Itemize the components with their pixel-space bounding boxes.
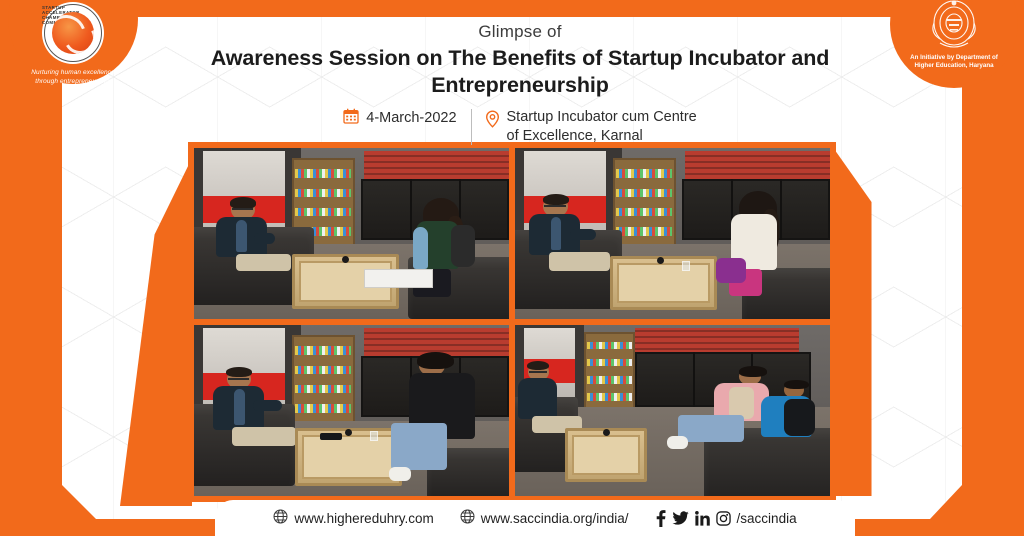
gallery-photo-1[interactable] [194, 148, 509, 319]
globe-icon [460, 509, 475, 527]
glass [370, 431, 378, 441]
top-orange-strip [0, 0, 1024, 17]
brick-wall [635, 328, 799, 354]
header-block: Glimpse of Awareness Session on The Bene… [150, 22, 890, 146]
footer-link-highereduhry-text: www.highereduhry.com [294, 511, 433, 526]
location-pin-icon [485, 110, 500, 134]
twitter-icon[interactable] [672, 511, 689, 526]
person-participant [723, 192, 805, 305]
bookshelf [292, 335, 355, 427]
sacc-tagline-line2: through entrepreneurship [35, 78, 110, 85]
footer-link-saccindia-text: www.saccindia.org/india/ [481, 511, 629, 526]
sacc-tagline-line1: Nurturing human excellence [31, 69, 115, 76]
sacc-logo: STARTUP ACCELERATOR CHAMBER OF COMMERCE … [8, 0, 138, 84]
person-student [408, 199, 490, 305]
sacc-tagline: Nurturing human excellence through entre… [14, 68, 132, 86]
glass [682, 261, 690, 271]
linkedin-icon[interactable] [695, 511, 710, 526]
bookshelf [584, 332, 634, 414]
haryana-tagline-line2: Higher Education, Haryana [914, 62, 993, 69]
phone [320, 433, 342, 440]
gallery-photo-4[interactable] [515, 325, 830, 496]
footer-link-saccindia[interactable]: www.saccindia.org/india/ [460, 509, 629, 527]
person-mentor [213, 199, 295, 293]
eyebrow-text: Glimpse of [150, 22, 890, 42]
person-participant [389, 352, 496, 489]
event-location: Startup Incubator cum Centre of Excellen… [472, 108, 697, 146]
calendar-icon [343, 108, 359, 128]
event-date: 4-March-2022 [343, 108, 470, 128]
sacc-seal-icon: STARTUP ACCELERATOR CHAMBER OF COMMERCE [42, 2, 104, 64]
event-location-line2: of Excellence, Karnal [507, 128, 643, 144]
event-location-text: Startup Incubator cum Centre of Excellen… [507, 108, 697, 146]
person-participant-b [748, 380, 830, 479]
page-title: Awareness Session on The Benefits of Sta… [150, 45, 890, 99]
coffee-table [610, 256, 717, 311]
haryana-tagline-line1: An Initiative by Department of [910, 54, 998, 61]
sacc-swirl-icon [52, 12, 94, 54]
haryana-emblem-icon [926, 0, 982, 52]
globe-icon [273, 509, 288, 527]
gallery-photo-2[interactable] [515, 148, 830, 319]
brick-wall [364, 151, 509, 178]
event-location-line1: Startup Incubator cum Centre [507, 109, 697, 125]
gallery-photo-3[interactable] [194, 325, 509, 496]
open-book [364, 269, 433, 288]
haryana-tagline: An Initiative by Department of Higher Ed… [896, 54, 1012, 71]
facebook-icon[interactable] [655, 510, 666, 527]
event-date-text: 4-March-2022 [366, 110, 456, 126]
social-handle-text: /saccindia [737, 511, 797, 526]
coffee-table [295, 428, 402, 486]
page-title-line1: Awareness Session on The Benefits of Sta… [211, 46, 830, 70]
person-mentor [528, 196, 616, 295]
footer-link-highereduhry[interactable]: www.highereduhry.com [273, 509, 433, 527]
footer-bar: www.highereduhry.com www.saccindia.org/i… [215, 500, 855, 536]
social-links: /saccindia [655, 510, 797, 527]
bookshelf [613, 158, 676, 250]
event-meta: 4-March-2022 Startup Incubator cum Centr… [150, 108, 890, 146]
brick-wall [685, 151, 830, 178]
page-title-line2: Entrepreneurship [431, 73, 609, 97]
person-mentor [213, 369, 301, 468]
instagram-icon[interactable] [716, 511, 731, 526]
photo-gallery [188, 142, 836, 502]
cup [342, 256, 349, 263]
